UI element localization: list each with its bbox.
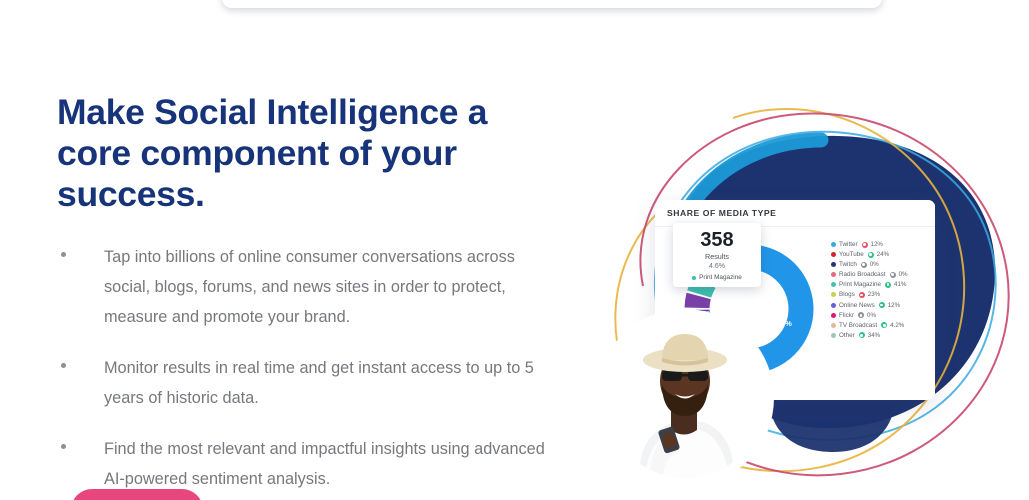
- legend-label: Flickr: [839, 312, 854, 319]
- legend-item[interactable]: Flickr0%: [831, 312, 931, 319]
- legend-item[interactable]: Online News12%: [831, 302, 931, 309]
- legend-trend-icon: [859, 292, 865, 298]
- bullet-dot-icon: [61, 444, 66, 449]
- list-item: Monitor results in real time and get ins…: [57, 353, 557, 413]
- legend-label: TV Broadcast: [839, 322, 877, 329]
- legend-percent: 4.2%: [890, 322, 904, 329]
- legend-label: YouTube: [839, 251, 864, 258]
- legend-trend-icon: [862, 242, 868, 248]
- legend-swatch-icon: [831, 262, 836, 267]
- legend-swatch-icon: [831, 333, 836, 338]
- tooltip-caption: Results: [679, 252, 755, 261]
- legend-item[interactable]: Twitter12%: [831, 241, 931, 248]
- legend-trend-icon: [859, 332, 865, 338]
- legend-swatch-icon: [831, 303, 836, 308]
- bullet-text: Tap into billions of online consumer con…: [104, 248, 515, 326]
- legend-trend-icon: [881, 322, 887, 328]
- legend-label: Twitter: [839, 241, 858, 248]
- legend-item[interactable]: Other34%: [831, 332, 931, 339]
- navy-blob-lobe: [769, 396, 895, 452]
- legend-percent: 12%: [871, 241, 883, 248]
- bullet-text: Find the most relevant and impactful ins…: [104, 440, 545, 488]
- legend-label: Online News: [839, 302, 875, 309]
- section-panel-edge: [222, 0, 882, 8]
- legend-item[interactable]: Blogs23%: [831, 291, 931, 298]
- tooltip-source-label: Print Magazine: [699, 274, 742, 281]
- legend-label: Twitch: [839, 261, 857, 268]
- hero-copy: Make Social Intelligence a core componen…: [57, 92, 557, 494]
- legend-item[interactable]: Twitch0%: [831, 261, 931, 268]
- legend-label: Radio Broadcast: [839, 271, 886, 278]
- legend-percent: 34%: [868, 332, 880, 339]
- legend-percent: 0%: [870, 261, 879, 268]
- legend-swatch-icon: [831, 252, 836, 257]
- chart-tooltip: 358 Results 4.6% Print Magazine: [673, 223, 761, 287]
- feature-bullet-list: Tap into billions of online consumer con…: [57, 242, 557, 494]
- legend-item[interactable]: TV Broadcast4.2%: [831, 322, 931, 329]
- legend-percent: 23%: [868, 291, 880, 298]
- legend-percent: 41%: [894, 281, 906, 288]
- tooltip-source-dot-icon: [692, 276, 696, 280]
- list-item: Tap into billions of online consumer con…: [57, 242, 557, 332]
- donut-label-tertiary: 3.5%: [696, 309, 713, 318]
- legend-label: Other: [839, 332, 855, 339]
- legend-percent: 12%: [888, 302, 900, 309]
- legend-percent: 24%: [877, 251, 889, 258]
- legend-item[interactable]: YouTube24%: [831, 251, 931, 258]
- legend-trend-icon: [879, 302, 885, 308]
- legend-swatch-icon: [831, 282, 836, 287]
- avatar: [605, 318, 765, 478]
- legend-item[interactable]: Radio Broadcast0%: [831, 271, 931, 278]
- legend-trend-icon: [885, 282, 891, 288]
- legend-item[interactable]: Print Magazine41%: [831, 281, 931, 288]
- donut-label-primary: 60%: [777, 319, 792, 328]
- list-item: Find the most relevant and impactful ins…: [57, 434, 557, 494]
- dashboard-title: SHARE OF MEDIA TYPE: [667, 208, 776, 218]
- legend-trend-icon: [858, 312, 864, 318]
- bullet-dot-icon: [61, 363, 66, 368]
- legend-swatch-icon: [831, 323, 836, 328]
- portrait-illustration: [605, 318, 765, 478]
- page-title: Make Social Intelligence a core componen…: [57, 92, 557, 215]
- legend-trend-icon: [868, 252, 874, 258]
- chart-legend: Twitter12%YouTube24%Twitch0%Radio Broadc…: [831, 241, 931, 342]
- legend-swatch-icon: [831, 313, 836, 318]
- legend-swatch-icon: [831, 292, 836, 297]
- hero-illustration: SHARE OF MEDIA TYPE: [583, 96, 1029, 500]
- legend-percent: 0%: [899, 271, 908, 278]
- legend-trend-icon: [861, 262, 867, 268]
- page-root: Make Social Intelligence a core componen…: [0, 0, 1029, 500]
- legend-percent: 0%: [867, 312, 876, 319]
- legend-swatch-icon: [831, 272, 836, 277]
- cta-button[interactable]: Learn more: [71, 489, 203, 500]
- tooltip-source: Print Magazine: [679, 274, 755, 281]
- tooltip-percent: 4.6%: [679, 263, 755, 270]
- legend-swatch-icon: [831, 242, 836, 247]
- tooltip-value: 358: [679, 230, 755, 250]
- legend-trend-icon: [890, 272, 896, 278]
- legend-label: Blogs: [839, 291, 855, 298]
- legend-label: Print Magazine: [839, 281, 881, 288]
- bullet-dot-icon: [61, 252, 66, 257]
- bullet-text: Monitor results in real time and get ins…: [104, 359, 534, 407]
